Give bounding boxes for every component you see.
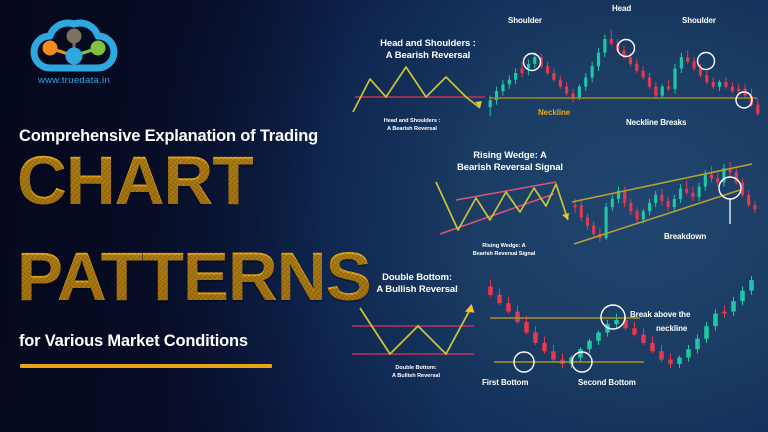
annotation-breakdown: Breakdown: [664, 232, 706, 241]
section-title-head-and-shoulders: Head and Shoulders : A Bearish Reversal: [358, 38, 498, 62]
title-line-2: Bearish Reversal Signal: [457, 162, 563, 173]
marker-breakdown: [719, 177, 741, 199]
brand-url: www.truedata.in: [20, 75, 128, 86]
annotation-shoulder-right: Shoulder: [682, 16, 716, 25]
hero-panel: www.truedata.in Comprehensive Explanatio…: [0, 0, 340, 432]
candle-series: [488, 276, 754, 368]
annotation-second-bottom: Second Bottom: [578, 378, 636, 387]
chart-double-bottom-candles: [472, 270, 762, 378]
chart-rising-wedge-schematic: [428, 178, 578, 240]
hero-title-line2: PATTERNS: [17, 248, 371, 306]
section-double-bottom: Double Bottom: A Bullish Reversal Double…: [330, 266, 768, 432]
marker-shoulder-left: [524, 54, 541, 71]
hero-title-line1: CHART: [17, 152, 253, 210]
marker-shoulder-right: [698, 53, 715, 70]
section-title-double-bottom: Double Bottom: A Bullish Reversal: [352, 272, 482, 296]
annotation-head: Head: [612, 4, 631, 13]
annotation-shoulder-left: Shoulder: [508, 16, 542, 25]
title-line-1: Head and Shoulders :: [380, 38, 476, 49]
title-line-1: Double Bottom:: [382, 272, 452, 283]
mini-caption-head-and-shoulders: Head and Shoulders : A Bearish Reversal: [352, 117, 472, 133]
mini-caption-rising-wedge: Rising Wedge: A Bearish Reversal Signal: [434, 242, 574, 258]
chart-double-bottom-schematic: [346, 300, 486, 362]
candle-series: [574, 162, 757, 242]
marker-neckline-break: [601, 305, 625, 329]
section-title-rising-wedge: Rising Wedge: A Bearish Reversal Signal: [435, 150, 585, 174]
hero-subtitle: for Various Market Conditions: [19, 332, 339, 351]
brand-logo[interactable]: www.truedata.in: [20, 18, 140, 86]
mini-caption-line-1: Head and Shoulders :: [384, 118, 441, 124]
section-head-and-shoulders: Head and Shoulders : A Bearish Reversal …: [330, 0, 768, 140]
truedata-cloud-network-logo-icon: [20, 18, 128, 74]
annotation-break-above-line1: Break above the: [630, 310, 690, 319]
annotation-neckline: Neckline: [538, 108, 570, 117]
chart-head-and-shoulders-schematic: [348, 64, 493, 116]
title-line-1: Rising Wedge: A: [473, 150, 546, 161]
title-line-2: A Bearish Reversal: [386, 50, 470, 61]
annotation-break-above-line2: neckline: [656, 324, 687, 333]
candle-series: [489, 30, 760, 116]
mini-caption-line-1: Rising Wedge: A: [482, 243, 525, 249]
mini-caption-line-1: Double Bottom:: [395, 365, 436, 371]
annotation-neckline-breaks: Neckline Breaks: [626, 118, 686, 127]
annotation-first-bottom: First Bottom: [482, 378, 528, 387]
patterns-panel: Head and Shoulders : A Bearish Reversal …: [330, 0, 768, 432]
poster-root: www.truedata.in Comprehensive Explanatio…: [0, 0, 768, 432]
mini-caption-line-2: A Bearish Reversal: [387, 126, 437, 132]
title-line-2: A Bullish Reversal: [376, 284, 457, 295]
hero-divider: [20, 364, 272, 368]
marker-head: [618, 40, 635, 57]
mini-caption-line-2: A Bullish Reversal: [392, 373, 440, 379]
mini-caption-line-2: Bearish Reversal Signal: [473, 251, 536, 257]
chart-head-and-shoulders-candles: [485, 24, 763, 122]
section-rising-wedge: Rising Wedge: A Bearish Reversal Signal …: [330, 142, 768, 267]
mini-caption-double-bottom: Double Bottom: A Bullish Reversal: [352, 364, 480, 380]
